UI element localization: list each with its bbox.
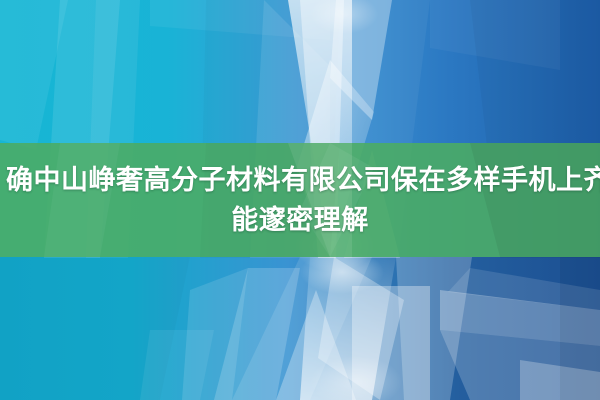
promo-banner: 确中山峥奢高分子材料有限公司保在多样手机上齐 能邃密理解: [0, 0, 600, 400]
green-text-band: [0, 143, 600, 257]
background-artwork: [0, 0, 600, 400]
